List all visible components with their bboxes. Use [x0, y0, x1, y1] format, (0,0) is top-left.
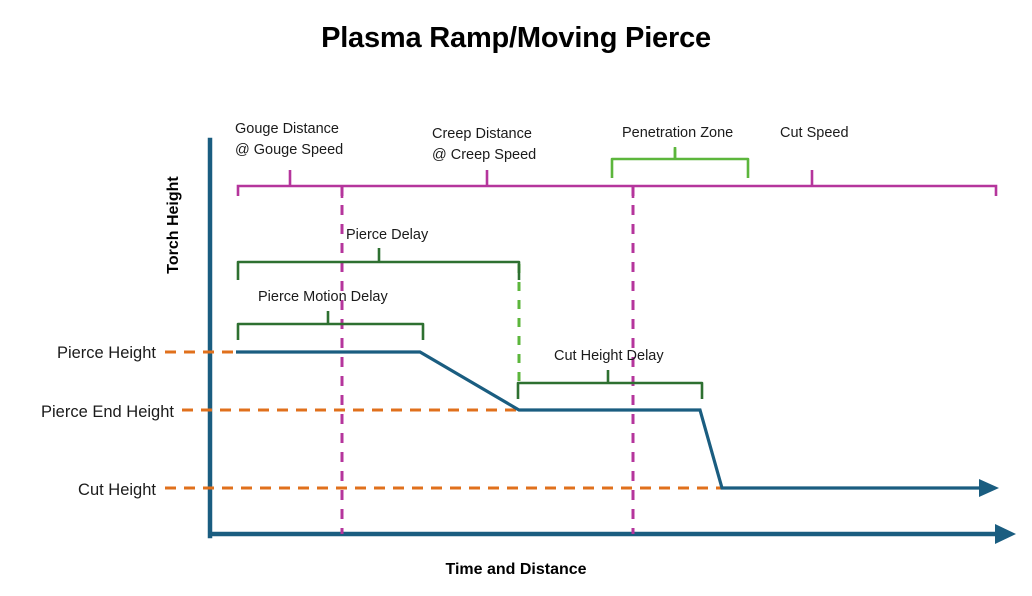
speed-label-gouge-line2: @ Gouge Speed: [235, 142, 343, 158]
pierce-delay-label: Pierce Delay: [346, 227, 429, 243]
x-axis-arrowhead: [995, 524, 1016, 544]
y-axis-tick-labels: Pierce Height Pierce End Height Cut Heig…: [41, 344, 174, 499]
cut-height-delay-bracket-group: Cut Height Delay: [518, 348, 702, 399]
pierce-motion-delay-bracket-group: Pierce Motion Delay: [238, 289, 423, 340]
torch-height-curve-arrowhead: [979, 479, 999, 497]
pierce-motion-delay-bracket: [238, 324, 423, 340]
axis-group: [208, 140, 1016, 544]
y-label-pierce-end-height: Pierce End Height: [41, 403, 174, 421]
speed-label-creep-line2: @ Creep Speed: [432, 147, 536, 163]
speed-label-cut-speed: Cut Speed: [780, 125, 849, 141]
pierce-motion-delay-label: Pierce Motion Delay: [258, 289, 388, 305]
speed-label-creep-line1: Creep Distance: [432, 126, 532, 142]
cut-height-delay-label: Cut Height Delay: [554, 348, 664, 364]
pierce-delay-bracket: [238, 262, 519, 280]
penetration-zone-label: Penetration Zone: [622, 125, 733, 141]
reference-lines-group: [165, 352, 722, 488]
cut-height-delay-bracket: [518, 383, 702, 399]
y-label-pierce-height: Pierce Height: [57, 344, 156, 362]
y-label-cut-height: Cut Height: [78, 481, 156, 499]
torch-height-curve: [236, 352, 984, 488]
speed-bracket-rail: [238, 186, 996, 196]
plasma-ramp-chart: Pierce Height Pierce End Height Cut Heig…: [0, 0, 1032, 596]
diagram-canvas: Plasma Ramp/Moving Pierce Torch Height T…: [0, 0, 1032, 596]
torch-height-curve-group: [236, 352, 999, 497]
penetration-zone-bracket-group: Penetration Zone: [612, 125, 748, 178]
pierce-delay-bracket-group: Pierce Delay: [238, 227, 519, 280]
speed-label-gouge-line1: Gouge Distance: [235, 121, 339, 137]
penetration-zone-bracket: [612, 149, 748, 178]
